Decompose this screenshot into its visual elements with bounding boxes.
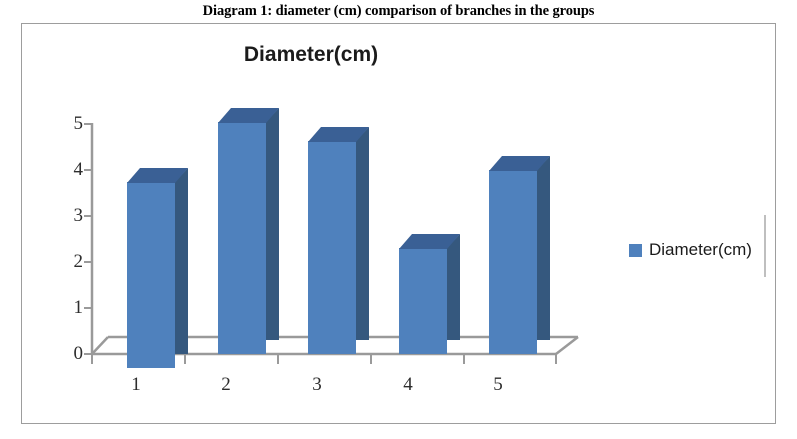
legend-swatch-icon (629, 244, 642, 257)
chart-legend[interactable]: Diameter(cm) (629, 240, 752, 260)
bar-category-1[interactable] (127, 168, 188, 354)
y-axis-label-3: 3 (55, 205, 83, 227)
legend-divider (764, 215, 766, 277)
x-axis-label-5: 5 (478, 374, 518, 396)
bar-front-face (399, 248, 447, 354)
y-axis-label-0: 0 (55, 343, 83, 365)
legend-label: Diameter(cm) (649, 240, 752, 260)
x-axis-label-2: 2 (206, 374, 246, 396)
bar-side-face (266, 108, 279, 340)
y-axis-label-5: 5 (55, 113, 83, 135)
bar-front-face (489, 170, 537, 354)
bar-category-2[interactable] (218, 108, 279, 354)
y-axis-label-2: 2 (55, 251, 83, 273)
bar-front-face (308, 141, 356, 354)
x-axis-label-4: 4 (388, 374, 428, 396)
y-axis-label-4: 4 (55, 159, 83, 181)
chart-title: Diameter(cm) (21, 43, 601, 67)
bar-front-face (127, 182, 175, 368)
bar-side-face (175, 168, 188, 354)
y-axis-label-1: 1 (55, 297, 83, 319)
figure-caption: Diagram 1: diameter (cm) comparison of b… (0, 3, 797, 20)
x-axis-label-1: 1 (116, 374, 156, 396)
bar-side-face (537, 156, 550, 340)
x-axis-label-3: 3 (297, 374, 337, 396)
bar-front-face (218, 122, 266, 354)
bar-side-face (356, 127, 369, 340)
bar-category-3[interactable] (308, 127, 369, 354)
bar-category-5[interactable] (489, 156, 550, 354)
bar-side-face (447, 234, 460, 340)
bar-category-4[interactable] (399, 234, 460, 354)
